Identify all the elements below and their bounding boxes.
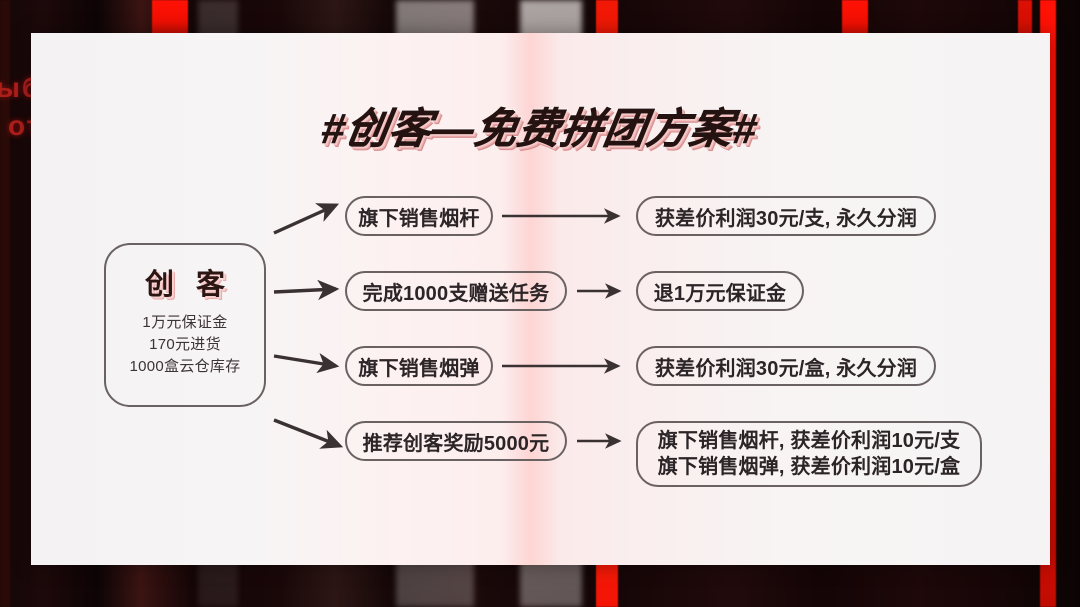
slide-canvas: ыбо от #创客—免费拼团方案# 创 客 1万元保证金 170元进货 100… bbox=[0, 0, 1080, 607]
result-pill-4-line-2: 旗下销售烟弹, 获差价利润10元/盒 bbox=[658, 454, 961, 480]
action-pill-1[interactable]: 旗下销售烟杆 bbox=[345, 196, 493, 236]
action-to-result-arrow-3 bbox=[500, 350, 630, 382]
background-red-block-1 bbox=[152, 0, 188, 36]
origin-role-name: 创 客 bbox=[138, 261, 232, 303]
result-pill-4-line-1: 旗下销售烟杆, 获差价利润10元/支 bbox=[658, 428, 961, 454]
result-pill-1[interactable]: 获差价利润30元/支, 永久分润 bbox=[636, 196, 936, 236]
result-pill-4[interactable]: 旗下销售烟杆, 获差价利润10元/支 旗下销售烟弹, 获差价利润10元/盒 bbox=[636, 421, 982, 487]
origin-to-action-arrow-1 bbox=[272, 185, 352, 245]
origin-role-box: 创 客 1万元保证金 170元进货 1000盒云仓库存 bbox=[104, 243, 266, 407]
origin-to-action-arrow-4 bbox=[272, 410, 356, 466]
origin-to-action-arrow-3 bbox=[272, 342, 352, 382]
action-pill-2[interactable]: 完成1000支赠送任务 bbox=[345, 271, 567, 311]
origin-to-action-arrow-2 bbox=[272, 272, 352, 308]
page-title: #创客—免费拼团方案# bbox=[0, 95, 1080, 156]
origin-detail-0: 1万元保证金 bbox=[142, 312, 227, 334]
action-to-result-arrow-2 bbox=[575, 275, 631, 307]
action-pill-3[interactable]: 旗下销售烟弹 bbox=[345, 346, 493, 386]
origin-detail-1: 170元进货 bbox=[149, 334, 221, 356]
result-pill-2[interactable]: 退1万元保证金 bbox=[636, 271, 804, 311]
action-to-result-arrow-1 bbox=[500, 200, 630, 232]
origin-detail-2: 1000盒云仓库存 bbox=[129, 356, 240, 378]
result-pill-3[interactable]: 获差价利润30元/盒, 永久分润 bbox=[636, 346, 936, 386]
action-pill-4[interactable]: 推荐创客奖励5000元 bbox=[345, 421, 567, 461]
action-to-result-arrow-4 bbox=[575, 425, 631, 457]
